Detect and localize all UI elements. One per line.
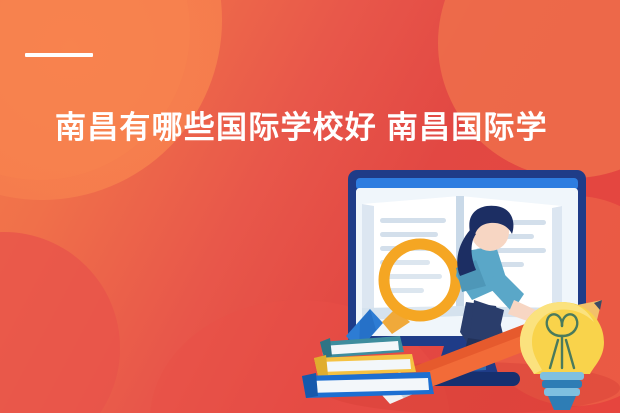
promo-banner: 南昌有哪些国际学校好 南昌国际学 — [0, 0, 620, 413]
bulb-base-ring-3 — [544, 388, 580, 396]
book-stack-bottom-spine — [302, 373, 318, 398]
online-learning-illustration — [300, 160, 620, 413]
banner-headline: 南昌有哪些国际学校好 南昌国际学 — [55, 105, 615, 153]
book-text-line — [380, 232, 438, 237]
bulb-base-ring-1 — [540, 372, 584, 380]
accent-rule — [25, 53, 93, 57]
book-text-line — [380, 218, 446, 223]
background-blob-bottom-left — [0, 232, 120, 413]
bulb-base-ring-2 — [542, 380, 582, 388]
background-blob-top-left — [0, 0, 222, 200]
background-blob-top-left-inner — [0, 0, 190, 180]
book-page-right-edge — [552, 206, 562, 310]
book-page-left-edge — [362, 204, 374, 312]
book-stack-mid-spine — [314, 355, 328, 376]
